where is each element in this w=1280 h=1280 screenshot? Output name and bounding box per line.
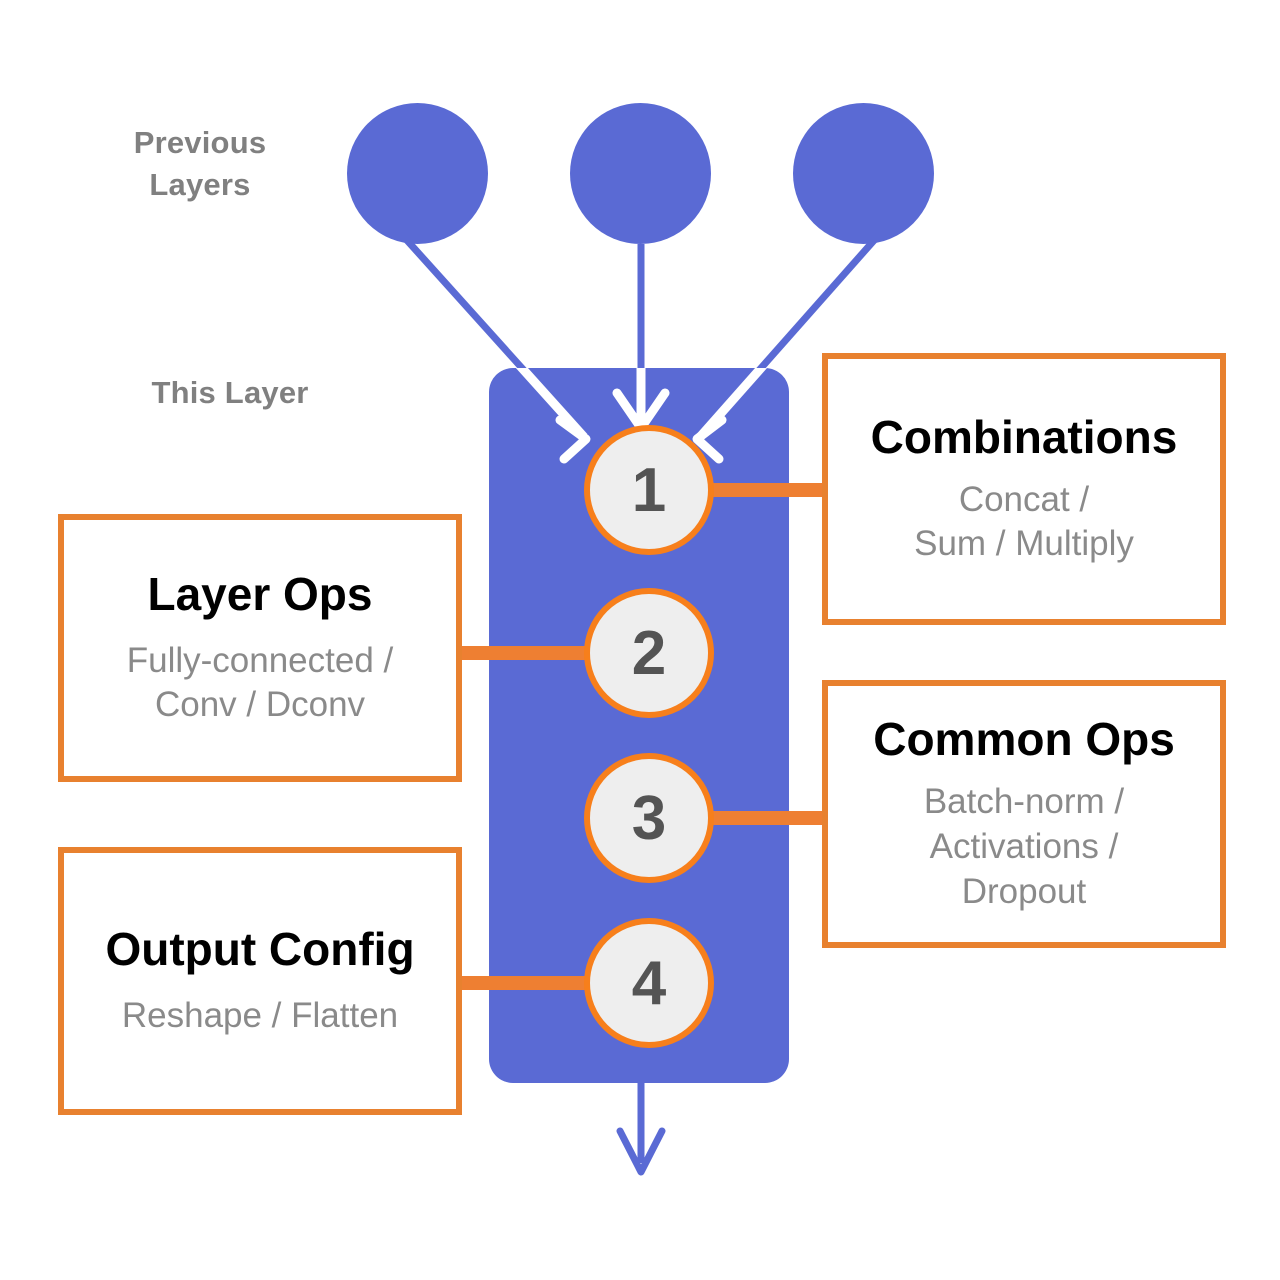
card-common-ops-title: Common Ops <box>844 713 1204 766</box>
card-layer-ops-body-line2: Conv / Dconv <box>80 683 440 728</box>
previous-layer-node-3 <box>793 103 934 244</box>
card-layer-ops[interactable]: Layer Ops Fully-connected / Conv / Dconv <box>58 514 462 782</box>
card-common-ops[interactable]: Common Ops Batch-norm / Activations / Dr… <box>822 680 1226 948</box>
output-arrow-head <box>620 1131 662 1172</box>
previous-layer-node-1 <box>347 103 488 244</box>
connector-step4-to-output-config <box>448 976 596 990</box>
card-output-config-title: Output Config <box>80 923 440 976</box>
previous-layers-label: Previous Layers <box>60 122 340 206</box>
card-common-ops-body: Batch-norm / Activations / Dropout <box>844 780 1204 914</box>
card-output-config-body-line1: Reshape / Flatten <box>80 994 440 1039</box>
previous-layers-label-line1: Previous <box>60 122 340 164</box>
previous-layers-label-line2: Layers <box>60 164 340 206</box>
card-layer-ops-title: Layer Ops <box>80 568 440 621</box>
card-output-config[interactable]: Output Config Reshape / Flatten <box>58 847 462 1115</box>
step-node-1[interactable]: 1 <box>584 425 714 555</box>
step-node-3[interactable]: 3 <box>584 753 714 883</box>
card-output-config-body: Reshape / Flatten <box>80 994 440 1039</box>
card-layer-ops-body: Fully-connected / Conv / Dconv <box>80 639 440 729</box>
card-combinations-body-line2: Sum / Multiply <box>844 522 1204 567</box>
card-common-ops-body-line3: Dropout <box>844 870 1204 915</box>
diagram-canvas: Previous Layers This Layer 1 2 3 4 Comb <box>0 0 1280 1280</box>
card-layer-ops-body-line1: Fully-connected / <box>80 639 440 684</box>
connector-step2-to-layer-ops <box>448 646 596 660</box>
card-combinations[interactable]: Combinations Concat / Sum / Multiply <box>822 353 1226 625</box>
step-node-4[interactable]: 4 <box>584 918 714 1048</box>
card-combinations-title: Combinations <box>844 411 1204 464</box>
card-combinations-body: Concat / Sum / Multiply <box>844 478 1204 568</box>
card-common-ops-body-line2: Activations / <box>844 825 1204 870</box>
step-node-2[interactable]: 2 <box>584 588 714 718</box>
card-common-ops-body-line1: Batch-norm / <box>844 780 1204 825</box>
this-layer-label: This Layer <box>60 372 400 414</box>
card-combinations-body-line1: Concat / <box>844 478 1204 523</box>
output-arrow-group <box>620 1083 662 1172</box>
previous-layer-node-2 <box>570 103 711 244</box>
